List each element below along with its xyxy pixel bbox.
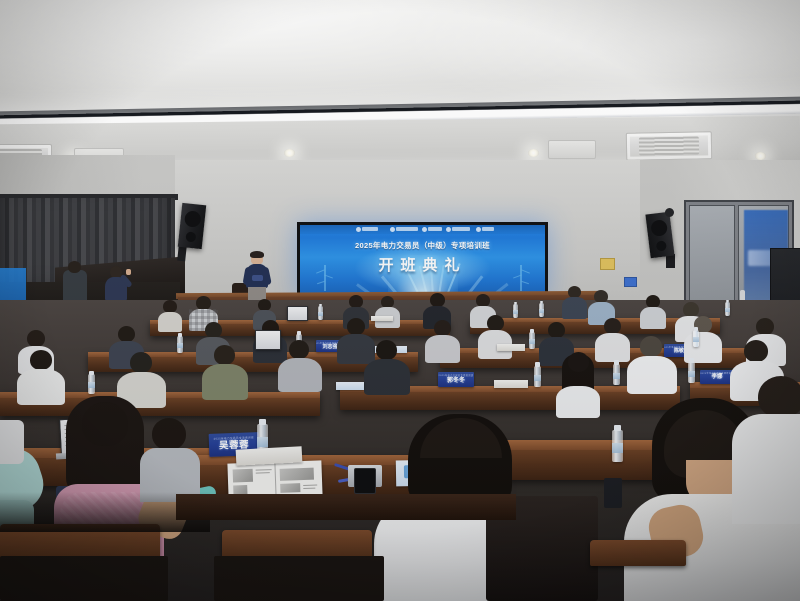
handout-paper (494, 380, 528, 388)
water-bottle (177, 336, 183, 353)
water-bottle (539, 303, 544, 317)
water-bottle (693, 330, 699, 347)
laptop[interactable] (255, 330, 281, 350)
ceiling-speaker-right (645, 212, 674, 259)
downlight-icon (528, 149, 539, 157)
name-plate-name: 李娜 (711, 375, 722, 381)
water-bottle (534, 366, 541, 387)
meeting-room-photo: 2025年电力交易员（中级）专项培训班 开班典礼 (0, 0, 800, 601)
ceiling-speaker-left (178, 203, 206, 249)
chair-seat (0, 556, 168, 601)
chair-back (590, 540, 686, 566)
ceiling-camera-icon (665, 208, 674, 217)
handout-paper (497, 344, 525, 351)
ac-vent (626, 131, 712, 160)
downlight-icon (284, 149, 295, 157)
downlight-icon (755, 152, 766, 160)
ac-vent-small (548, 140, 596, 159)
name-plate-name: 刘志强 (322, 345, 337, 350)
laptop[interactable] (287, 306, 308, 321)
water-bottle (529, 332, 535, 349)
name-plate: 2025年电力交易员专项培训班 郭冬冬 (438, 372, 474, 387)
wall-switch-plate (624, 277, 637, 287)
water-bottle (612, 430, 623, 462)
water-bottle (688, 362, 695, 383)
smartphone[interactable] (354, 468, 376, 494)
handout-paper (336, 382, 364, 390)
led-display-bezel: 2025年电力交易员（中级）专项培训班 开班典礼 (297, 222, 548, 298)
wall-notice-plate (600, 258, 615, 270)
water-bottle (613, 364, 620, 385)
screen-logo-bar (300, 225, 545, 234)
name-plate-name: 郭冬冬 (447, 378, 465, 384)
screen-headline: 开班典礼 (300, 254, 545, 275)
name-plate-name: 陈敏 (674, 349, 684, 354)
water-bottle (318, 306, 323, 320)
smartphone[interactable] (604, 478, 622, 508)
water-bottle (725, 302, 730, 316)
water-bottle (513, 304, 518, 318)
name-plate: 2025年电力交易员专项培训班 李娜 (700, 370, 734, 384)
led-display: 2025年电力交易员（中级）专项培训班 开班典礼 (300, 225, 545, 295)
desk-front-edge (176, 494, 516, 520)
attendee-seated-far-left (63, 270, 87, 304)
handout-paper (371, 316, 393, 321)
chair-seat (214, 556, 384, 601)
presenter (243, 252, 271, 304)
screen-subtitle: 2025年电力交易员（中级）专项培训班 (300, 240, 545, 251)
water-bottle (88, 374, 95, 394)
